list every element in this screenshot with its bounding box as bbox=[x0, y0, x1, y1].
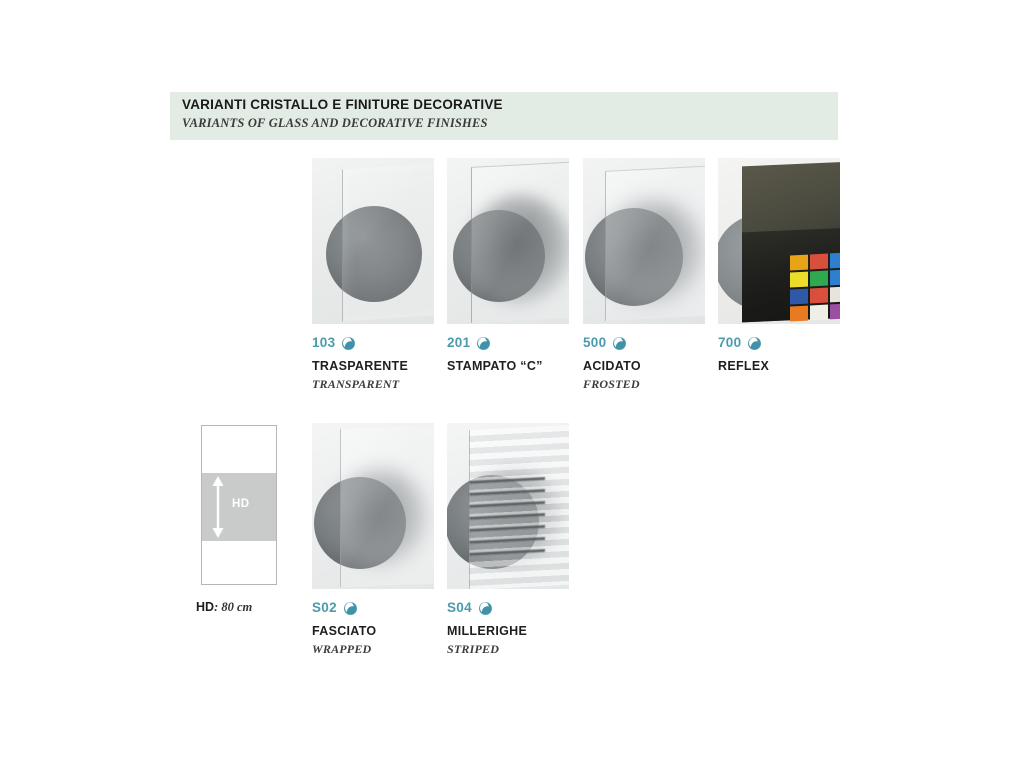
finish-code-row: S02 bbox=[312, 600, 434, 616]
finish-name-it: MILLERIGHE bbox=[447, 625, 569, 639]
glass-pane bbox=[342, 162, 434, 321]
finish-name-it: TRASPARENTE bbox=[312, 360, 434, 374]
finish-name-it: FASCIATO bbox=[312, 625, 434, 639]
page-subtitle: VARIANTS OF GLASS AND DECORATIVE FINISHE… bbox=[182, 116, 488, 131]
finish-card-103[interactable]: 103 TRASPARENTE TRANSPARENT bbox=[312, 158, 434, 391]
finish-code: 500 bbox=[583, 336, 606, 350]
glass-pane bbox=[471, 161, 569, 323]
color-chip bbox=[830, 252, 840, 268]
acidato-swatch bbox=[583, 158, 705, 324]
millerighe-swatch bbox=[447, 423, 569, 589]
finish-code: 201 bbox=[447, 336, 470, 350]
page-title: VARIANTI CRISTALLO E FINITURE DECORATIVE bbox=[182, 97, 503, 112]
color-chip bbox=[830, 269, 840, 285]
hd-height-diagram: HD bbox=[201, 425, 277, 585]
color-chip bbox=[810, 305, 828, 321]
finish-code-row: 700 bbox=[718, 335, 840, 351]
hd-band-label: HD bbox=[232, 498, 250, 510]
finish-name-en: TRANSPARENT bbox=[312, 378, 434, 391]
finish-code-row: 103 bbox=[312, 335, 434, 351]
finish-name-en: WRAPPED bbox=[312, 643, 434, 656]
finish-card-700[interactable]: 700 REFLEX bbox=[718, 158, 840, 378]
glass-sample-icon bbox=[343, 601, 358, 616]
finish-card-500[interactable]: 500 ACIDATO FROSTED bbox=[583, 158, 705, 391]
reflex-swatch bbox=[718, 158, 840, 324]
glass-sample-icon bbox=[612, 336, 627, 351]
hd-height-arrow-icon bbox=[211, 476, 225, 538]
fasciato-swatch bbox=[312, 423, 434, 589]
finish-name-en: FROSTED bbox=[583, 378, 705, 391]
glass-sample-icon bbox=[478, 601, 493, 616]
finish-card-s02[interactable]: S02 FASCIATO WRAPPED bbox=[312, 423, 434, 656]
finish-name-en: STRIPED bbox=[447, 643, 569, 656]
finish-code-row: S04 bbox=[447, 600, 569, 616]
finish-card-201[interactable]: 201 STAMPATO “C” bbox=[447, 158, 569, 378]
finish-code-row: 201 bbox=[447, 335, 569, 351]
finish-name-it: ACIDATO bbox=[583, 360, 705, 374]
color-chip bbox=[830, 303, 840, 319]
finish-card-s04[interactable]: S04 MILLERIGHE STRIPED bbox=[447, 423, 569, 656]
hd-caption-value: : 80 cm bbox=[214, 600, 252, 614]
glass-sample-icon bbox=[476, 336, 491, 351]
hd-caption-key: HD bbox=[196, 600, 214, 614]
glass-pane bbox=[469, 424, 569, 589]
trasparente-swatch bbox=[312, 158, 434, 324]
color-chip bbox=[810, 288, 828, 304]
finish-code: 700 bbox=[718, 336, 741, 350]
color-chip bbox=[830, 286, 840, 302]
color-chip bbox=[810, 254, 828, 270]
finish-name-it: STAMPATO “C” bbox=[447, 360, 569, 374]
finish-name-it: REFLEX bbox=[718, 360, 840, 374]
section-header-band: VARIANTI CRISTALLO E FINITURE DECORATIVE… bbox=[170, 92, 838, 140]
finish-code: 103 bbox=[312, 336, 335, 350]
glass-pane bbox=[340, 425, 434, 587]
glass-sample-icon bbox=[341, 336, 356, 351]
color-chip bbox=[790, 289, 808, 305]
stampato-c-swatch bbox=[447, 158, 569, 324]
glass-pane bbox=[605, 165, 705, 321]
color-chip bbox=[790, 255, 808, 271]
color-chip bbox=[810, 271, 828, 287]
finish-code-row: 500 bbox=[583, 335, 705, 351]
color-reference-chart bbox=[790, 252, 840, 321]
glass-sample-icon bbox=[747, 336, 762, 351]
finish-code: S02 bbox=[312, 601, 337, 615]
color-chip bbox=[790, 306, 808, 322]
finish-code: S04 bbox=[447, 601, 472, 615]
hd-caption: HD: 80 cm bbox=[196, 600, 252, 615]
color-chip bbox=[790, 272, 808, 288]
